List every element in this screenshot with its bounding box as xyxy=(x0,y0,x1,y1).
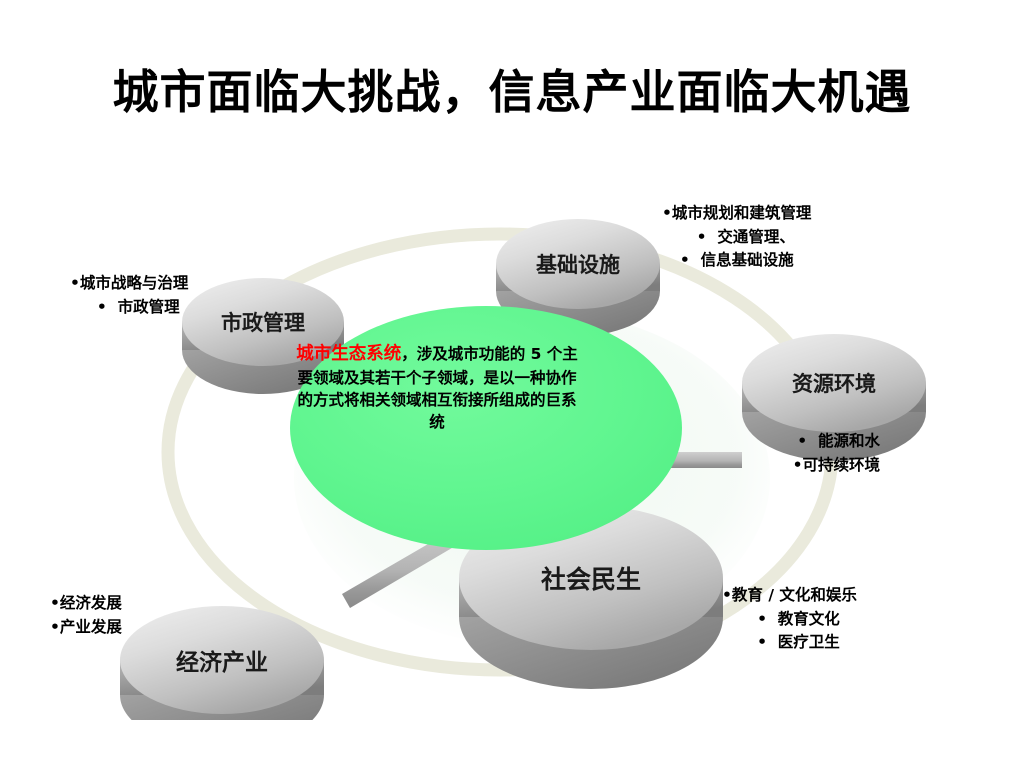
hub-description: 城市生态系统，涉及城市功能的 5 个主要领域及其若干个子领域，是以一种协作的方式… xyxy=(294,342,580,433)
bullet-icon: • xyxy=(697,228,707,246)
callout-text: 信息基础设施 xyxy=(701,251,794,269)
callout-resources-environment: • 能源和水 •可持续环境 xyxy=(793,430,880,477)
bullet-icon: • xyxy=(757,633,767,651)
cycle-diagram: 基础设施 市政管理 资源环境 社会民生 经济产业 城市生态系统，涉及城市功能的 … xyxy=(0,160,1024,720)
callout-line: • 信息基础设施 xyxy=(662,249,811,273)
callout-line: • 交通管理、 xyxy=(662,226,811,250)
bullet-icon: • xyxy=(70,274,80,292)
callout-infrastructure: •城市规划和建筑管理 • 交通管理、 • 信息基础设施 xyxy=(662,202,811,273)
callout-text: 教育文化 xyxy=(778,610,840,628)
bullet-icon: • xyxy=(50,594,60,612)
bullet-icon: • xyxy=(757,610,767,628)
callout-text: 城市战略与治理 xyxy=(80,274,189,292)
bullet-icon: • xyxy=(97,298,107,316)
callout-line: •教育 / 文化和娱乐 xyxy=(722,584,857,608)
node-economy-industry[interactable] xyxy=(120,606,324,720)
bullet-icon: • xyxy=(793,456,803,474)
callout-text: 市政管理 xyxy=(118,298,180,316)
callout-line: •可持续环境 xyxy=(793,454,880,478)
callout-line: • 教育文化 xyxy=(722,608,857,632)
callout-text: 教育 / 文化和娱乐 xyxy=(732,586,857,604)
callout-line: • 能源和水 xyxy=(793,430,880,454)
callout-text: 可持续环境 xyxy=(802,456,880,474)
callout-line: •经济发展 xyxy=(50,592,122,616)
callout-municipal-management: •城市战略与治理 • 市政管理 xyxy=(70,272,188,319)
callout-line: •城市战略与治理 xyxy=(70,272,188,296)
bullet-icon: • xyxy=(797,432,807,450)
callout-economy-industry: •经济发展 •产业发展 xyxy=(50,592,122,639)
callout-text: 城市规划和建筑管理 xyxy=(672,204,812,222)
callout-line: •产业发展 xyxy=(50,616,122,640)
callout-text: 交通管理、 xyxy=(717,228,795,246)
callout-text: 产业发展 xyxy=(60,618,122,636)
callout-line: • 市政管理 xyxy=(70,296,188,320)
callout-text: 经济发展 xyxy=(60,594,122,612)
callout-line: • 医疗卫生 xyxy=(722,631,857,655)
bullet-icon: • xyxy=(50,618,60,636)
bullet-icon: • xyxy=(680,251,690,269)
bullet-icon: • xyxy=(722,586,732,604)
callout-text: 医疗卫生 xyxy=(778,633,840,651)
callout-line: •城市规划和建筑管理 xyxy=(662,202,811,226)
page-title: 城市面临大挑战，信息产业面临大机遇 xyxy=(0,64,1024,122)
bullet-icon: • xyxy=(662,204,672,222)
slide-canvas: 城市面临大挑战，信息产业面临大机遇 xyxy=(0,0,1024,768)
hub-description-highlight: 城市生态系统 xyxy=(296,344,401,364)
callout-text: 能源和水 xyxy=(818,432,880,450)
callout-social-welfare: •教育 / 文化和娱乐 • 教育文化 • 医疗卫生 xyxy=(722,584,857,655)
